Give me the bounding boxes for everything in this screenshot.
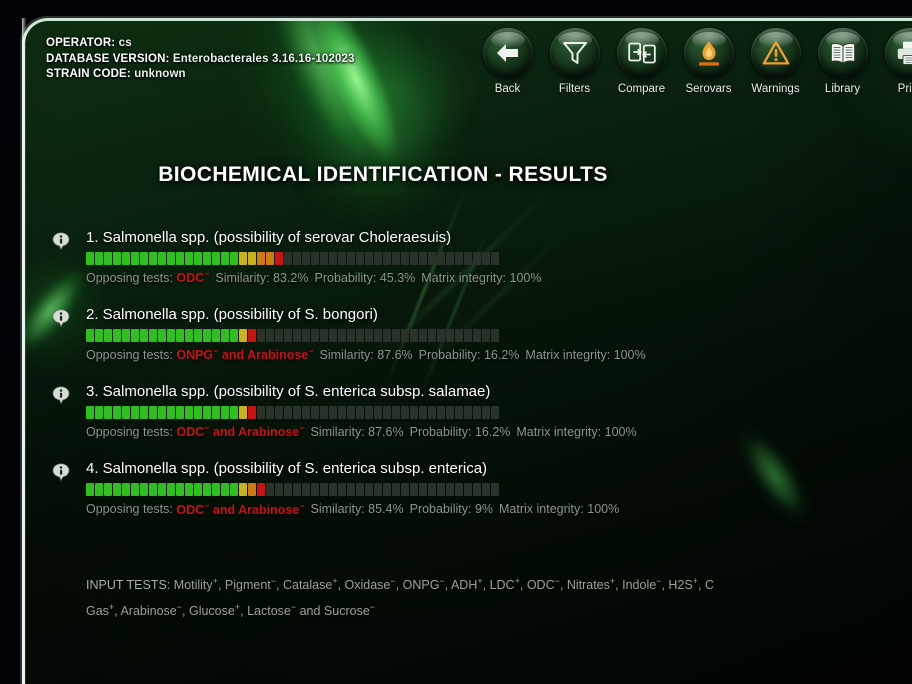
similarity-bar-segment [320,406,328,419]
similarity-bar-segment [392,252,400,265]
similarity-bar-segment [482,406,490,419]
matrix-integrity-label: Matrix integrity: [499,503,584,517]
similarity-bar [86,252,912,265]
input-tests-line-1-items: Motility+, Pigment−, Catalase+, Oxidase−… [174,578,714,592]
toolbar-label-serovars: Serovars [685,83,731,95]
similarity-bar-segment [104,406,112,419]
similarity-bar-segment [203,483,211,496]
similarity-bar-segment [428,406,436,419]
similarity-bar-segment [167,329,175,342]
opposing-tests-label: Opposing tests: [86,348,173,362]
similarity-bar [86,483,912,496]
similarity-bar-segment [329,252,337,265]
similarity-bar-segment [401,329,409,342]
similarity-bar-segment [383,483,391,496]
similarity-bar-segment [248,483,256,496]
probability-value: 9% [475,503,493,517]
strain-code-row: STRAIN CODE: unknown [46,67,355,83]
input-tests-line-1: INPUT TESTS: Motility+, Pigment−, Catala… [86,570,912,596]
input-test-item: ADH+ [451,578,483,592]
similarity-bar-segment [86,406,94,419]
similarity-bar-segment [284,406,292,419]
similarity-bar-segment [392,406,400,419]
similarity-bar-segment [383,252,391,265]
similarity-bar-segment [374,406,382,419]
similarity-bar-segment [131,329,139,342]
similarity-bar-segment [158,252,166,265]
input-tests-summary: INPUT TESTS: Motility+, Pigment−, Catala… [86,570,912,622]
similarity-bar-segment [275,406,283,419]
input-test-item: C [705,578,714,592]
result-metadata: Opposing tests: ODC− and Arabinose−Simil… [86,423,912,439]
similarity-bar-segment [401,252,409,265]
input-test-item: Catalase+ [283,578,338,592]
similarity-bar-segment [257,483,265,496]
similarity-bar-segment [266,252,274,265]
similarity-bar-segment [419,329,427,342]
toolbar-label-library: Library [825,83,860,95]
opposing-tests-label: Opposing tests: [86,503,173,517]
similarity-bar-segment [491,483,499,496]
similarity-bar-segment [329,329,337,342]
info-icon[interactable] [52,386,70,404]
similarity-bar-segment [347,252,355,265]
similarity-bar-segment [248,406,256,419]
result-row: 1. Salmonella spp. (possibility of serov… [52,228,912,285]
similarity-bar-segment [149,406,157,419]
similarity-bar-segment [293,406,301,419]
similarity-bar-segment [464,406,472,419]
matrix-integrity-value: 100% [605,425,637,439]
similarity-bar-segment [275,329,283,342]
similarity-bar-segment [113,329,121,342]
opposing-test-conjunction: and Arabinose− [209,503,304,517]
similarity-bar-segment [446,252,454,265]
input-test-item: Nitrates+ [567,578,615,592]
info-icon[interactable] [52,463,70,481]
strain-code-label: STRAIN CODE: [46,68,131,80]
similarity-bar-segment [410,483,418,496]
similarity-bar-segment [356,329,364,342]
similarity-bar-segment [131,483,139,496]
similarity-bar-segment [194,406,202,419]
probability-label: Probability: [315,271,377,285]
similarity-bar-segment [302,406,310,419]
similarity-bar-segment [365,406,373,419]
similarity-bar-segment [356,252,364,265]
similarity-bar-segment [437,329,445,342]
similarity-bar-segment [365,252,373,265]
similarity-bar-segment [464,483,472,496]
opposing-test: ODC− [176,425,209,439]
similarity-bar-segment [455,483,463,496]
similarity-value: 87.6% [377,348,412,362]
similarity-bar-segment [86,329,94,342]
similarity-bar-segment [482,329,490,342]
similarity-bar-segment [491,329,499,342]
similarity-bar-segment [464,329,472,342]
input-test-separator: , [396,578,403,592]
input-test-separator: , [560,578,567,592]
matrix-integrity-value: 100% [510,271,542,285]
matrix-integrity-label: Matrix integrity: [421,271,506,285]
result-name[interactable]: 2. Salmonella spp. (possibility of S. bo… [86,305,912,325]
input-test-separator: , [276,578,283,592]
similarity-bar-segment [185,406,193,419]
similarity-bar [86,406,912,419]
similarity-bar-segment [338,252,346,265]
similarity-bar-segment [257,329,265,342]
database-version-row: DATABASE VERSION: Enterobacterales 3.16.… [46,52,355,68]
opposing-test-conjunction: and Arabinose− [218,348,313,362]
similarity-bar-segment [212,252,220,265]
similarity-bar-segment [338,483,346,496]
similarity-bar-segment [95,483,103,496]
matrix-integrity-value: 100% [587,503,619,517]
probability-value: 16.2% [484,348,519,362]
opposing-test: ONPG− [176,348,218,362]
similarity-bar-segment [419,406,427,419]
similarity-bar-segment [410,406,418,419]
similarity-bar-segment [149,329,157,342]
similarity-bar-segment [257,252,265,265]
compare-icon[interactable] [617,28,667,78]
matrix-integrity-label: Matrix integrity: [516,425,601,439]
similarity-bar-segment [266,329,274,342]
similarity-bar-segment [284,252,292,265]
session-metadata: OPERATOR: cs DATABASE VERSION: Enterobac… [46,36,355,83]
input-test-item: Glucose+ [189,604,240,618]
similarity-bar-segment [140,329,148,342]
similarity-bar-segment [320,329,328,342]
similarity-bar-segment [473,406,481,419]
similarity-bar-segment [410,252,418,265]
result-row: 3. Salmonella spp. (possibility of S. en… [52,382,912,439]
input-test-separator: , [338,578,345,592]
result-name[interactable]: 4. Salmonella spp. (possibility of S. en… [86,459,912,479]
similarity-bar-segment [293,483,301,496]
similarity-bar-segment [473,483,481,496]
matrix-integrity-value: 100% [614,348,646,362]
similarity-bar-segment [140,406,148,419]
input-test-separator: , [698,578,705,592]
similarity-bar-segment [203,406,211,419]
back-arrow-icon[interactable] [483,28,533,78]
similarity-bar-segment [167,483,175,496]
results-list: 1. Salmonella spp. (possibility of serov… [52,228,912,537]
similarity-bar-segment [455,252,463,265]
input-test-item: Arabinose− [120,604,182,618]
similarity-bar-segment [437,406,445,419]
similarity-value: 83.2% [273,271,308,285]
similarity-bar-segment [194,483,202,496]
similarity-bar-segment [446,329,454,342]
similarity-bar-segment [239,483,247,496]
similarity-bar-segment [167,252,175,265]
similarity-bar-segment [131,252,139,265]
result-row: 2. Salmonella spp. (possibility of S. bo… [52,305,912,362]
similarity-bar-segment [239,406,247,419]
similarity-bar-segment [329,406,337,419]
similarity-bar-segment [95,252,103,265]
input-test-item: LDC+ [490,578,520,592]
similarity-bar-segment [158,483,166,496]
similarity-bar-segment [419,483,427,496]
similarity-bar-segment [248,329,256,342]
similarity-bar-segment [419,252,427,265]
similarity-bar-segment [230,252,238,265]
input-test-item: ODC− [527,578,560,592]
similarity-label: Similarity: [311,425,365,439]
probability-label: Probability: [410,503,472,517]
similarity-bar [86,329,912,342]
toolbar-label-print: Print [898,83,912,95]
strain-code-value: unknown [134,68,186,80]
input-test-item: Motility+ [174,578,218,592]
similarity-bar-segment [140,483,148,496]
similarity-bar-segment [122,329,130,342]
similarity-label: Similarity: [215,271,269,285]
similarity-bar-segment [149,252,157,265]
similarity-bar-segment [446,483,454,496]
probability-label: Probability: [419,348,481,362]
similarity-bar-segment [410,329,418,342]
similarity-bar-segment [455,329,463,342]
opposing-tests-label: Opposing tests: [86,425,173,439]
similarity-bar-segment [167,406,175,419]
similarity-bar-segment [230,406,238,419]
probability-label: Probability: [410,425,472,439]
similarity-bar-segment [464,252,472,265]
toolbar-button-serovars[interactable]: Serovars [675,28,742,95]
similarity-bar-segment [302,483,310,496]
similarity-bar-segment [284,483,292,496]
similarity-bar-segment [95,406,103,419]
toolbar-button-filters[interactable]: Filters [541,28,608,95]
similarity-bar-segment [302,329,310,342]
similarity-label: Similarity: [311,503,365,517]
similarity-bar-segment [248,252,256,265]
toolbar-button-print[interactable]: Print [876,28,912,95]
info-icon[interactable] [52,309,70,327]
opposing-test: ODC− [176,271,209,285]
result-metadata: Opposing tests: ODC−Similarity: 83.2%Pro… [86,269,912,285]
opposing-test: ODC− [176,503,209,517]
similarity-bar-segment [374,252,382,265]
similarity-bar-segment [176,329,184,342]
similarity-bar-segment [311,406,319,419]
similarity-bar-segment [329,483,337,496]
similarity-bar-segment [158,406,166,419]
similarity-bar-segment [221,483,229,496]
database-version-value: Enterobacterales 3.16.16-102023 [173,53,355,65]
similarity-bar-segment [149,483,157,496]
similarity-bar-segment [275,252,283,265]
similarity-bar-segment [221,329,229,342]
similarity-bar-segment [347,329,355,342]
info-icon[interactable] [52,232,70,250]
similarity-bar-segment [446,406,454,419]
similarity-bar-segment [176,406,184,419]
similarity-bar-segment [86,483,94,496]
similarity-bar-segment [428,252,436,265]
probability-value: 16.2% [475,425,510,439]
probability-value: 45.3% [380,271,415,285]
similarity-bar-segment [113,406,121,419]
input-test-item: Gas+ [86,604,114,618]
operator-row: OPERATOR: cs [46,36,355,52]
similarity-bar-segment [392,483,400,496]
similarity-bar-segment [302,252,310,265]
book-icon[interactable] [818,28,868,78]
similarity-bar-segment [338,329,346,342]
operator-value: cs [119,37,132,49]
similarity-bar-segment [122,252,130,265]
similarity-bar-segment [212,406,220,419]
similarity-bar-segment [320,483,328,496]
similarity-bar-segment [311,483,319,496]
similarity-bar-segment [230,329,238,342]
similarity-bar-segment [140,252,148,265]
input-test-item: H2S+ [668,578,698,592]
input-test-item: Lactose− [247,604,296,618]
similarity-bar-segment [239,329,247,342]
funnel-icon[interactable] [550,28,600,78]
input-test-item: and Sucrose− [296,604,375,618]
similarity-bar-segment [113,252,121,265]
similarity-bar-segment [239,252,247,265]
similarity-bar-segment [113,483,121,496]
similarity-bar-segment [473,252,481,265]
toolbar-button-library[interactable]: Library [809,28,876,95]
similarity-bar-segment [356,483,364,496]
toolbar-button-warnings[interactable]: Warnings [742,28,809,95]
similarity-bar-segment [266,406,274,419]
similarity-bar-segment [347,483,355,496]
toolbar-label-back: Back [495,83,521,95]
warning-triangle-icon[interactable] [751,28,801,78]
similarity-bar-segment [311,329,319,342]
similarity-bar-segment [293,329,301,342]
similarity-bar-segment [221,406,229,419]
opposing-tests-label: Opposing tests: [86,271,173,285]
result-metadata: Opposing tests: ODC− and Arabinose−Simil… [86,500,912,516]
toolbar-button-compare[interactable]: Compare [608,28,675,95]
similarity-bar-segment [347,406,355,419]
result-name[interactable]: 1. Salmonella spp. (possibility of serov… [86,228,912,248]
similarity-bar-segment [194,329,202,342]
similarity-bar-segment [311,252,319,265]
similarity-bar-segment [122,483,130,496]
similarity-bar-segment [104,329,112,342]
similarity-bar-segment [230,483,238,496]
page-title: BIOCHEMICAL IDENTIFICATION - RESULTS [0,163,912,187]
similarity-bar-segment [338,406,346,419]
toolbar-label-filters: Filters [559,83,590,95]
similarity-bar-segment [392,329,400,342]
input-test-separator: , [218,578,225,592]
similarity-bar-segment [185,252,193,265]
similarity-bar-segment [221,252,229,265]
similarity-bar-segment [482,252,490,265]
similarity-bar-segment [320,252,328,265]
similarity-bar-segment [95,329,103,342]
similarity-bar-segment [473,329,481,342]
similarity-bar-segment [401,483,409,496]
similarity-bar-segment [284,329,292,342]
input-test-item: ONPG− [403,578,445,592]
input-tests-label: INPUT TESTS: [86,578,170,592]
similarity-bar-segment [257,406,265,419]
input-test-separator: , [520,578,527,592]
similarity-bar-segment [455,406,463,419]
similarity-bar-segment [275,483,283,496]
similarity-bar-segment [266,483,274,496]
printer-icon[interactable] [885,28,912,78]
similarity-bar-segment [356,406,364,419]
input-test-item: Oxidase− [345,578,396,592]
similarity-bar-segment [104,483,112,496]
similarity-label: Similarity: [320,348,374,362]
similarity-value: 85.4% [368,503,403,517]
result-row: 4. Salmonella spp. (possibility of S. en… [52,459,912,516]
similarity-bar-segment [365,329,373,342]
input-test-separator: , [445,578,451,592]
matrix-integrity-label: Matrix integrity: [525,348,610,362]
similarity-bar-segment [176,483,184,496]
input-test-separator: , [182,604,189,618]
similarity-bar-segment [203,252,211,265]
similarity-bar-segment [383,406,391,419]
input-test-separator: , [483,578,490,592]
similarity-bar-segment [374,329,382,342]
similarity-bar-segment [203,329,211,342]
similarity-bar-segment [194,252,202,265]
application-window: OPERATOR: cs DATABASE VERSION: Enterobac… [0,0,912,684]
similarity-bar-segment [158,329,166,342]
similarity-bar-segment [104,252,112,265]
similarity-bar-segment [482,483,490,496]
similarity-bar-segment [437,483,445,496]
similarity-bar-segment [401,406,409,419]
similarity-value: 87.6% [368,425,403,439]
toolbar-label-warnings: Warnings [751,83,799,95]
result-metadata: Opposing tests: ONPG− and Arabinose−Simi… [86,346,912,362]
similarity-bar-segment [428,329,436,342]
similarity-bar-segment [185,483,193,496]
opposing-test-conjunction: and Arabinose− [209,425,304,439]
input-tests-line-2-items: Gas+, Arabinose−, Glucose+, Lactose− and… [86,596,912,622]
similarity-bar-segment [131,406,139,419]
result-name[interactable]: 3. Salmonella spp. (possibility of S. en… [86,382,912,402]
toolbar: BackFiltersCompareSerovarsWarningsLibrar… [474,28,912,95]
similarity-bar-segment [212,329,220,342]
similarity-bar-segment [374,483,382,496]
flame-icon[interactable] [684,28,734,78]
similarity-bar-segment [365,483,373,496]
similarity-bar-segment [86,252,94,265]
input-test-item: Indole− [622,578,661,592]
toolbar-label-compare: Compare [618,83,665,95]
similarity-bar-segment [428,483,436,496]
similarity-bar-segment [176,252,184,265]
toolbar-button-back[interactable]: Back [474,28,541,95]
operator-label: OPERATOR: [46,37,115,49]
input-test-item: Pigment− [225,578,276,592]
database-version-label: DATABASE VERSION: [46,53,170,65]
similarity-bar-segment [122,406,130,419]
similarity-bar-segment [491,406,499,419]
